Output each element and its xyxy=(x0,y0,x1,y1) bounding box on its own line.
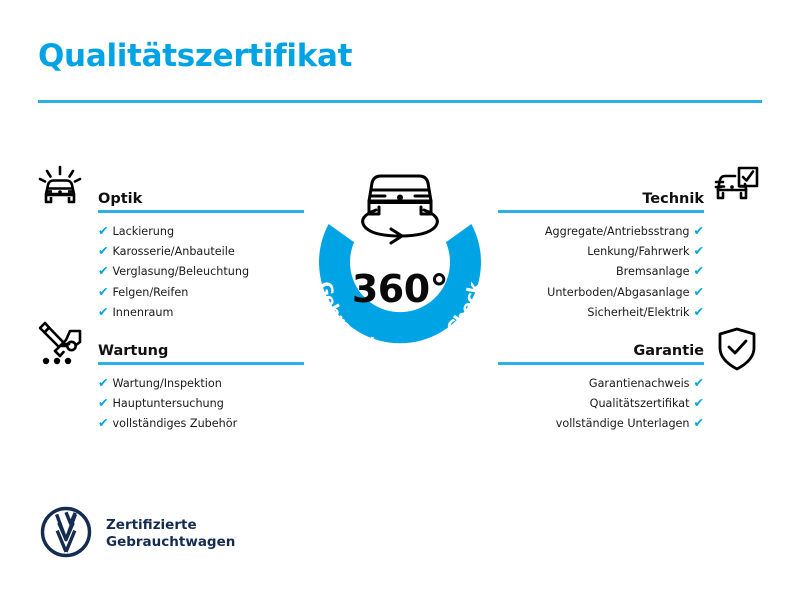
section-optik-divider xyxy=(98,210,304,213)
title-divider xyxy=(38,100,762,103)
list-item: vollständige Unterlagen✔ xyxy=(498,413,704,433)
page-title: Qualitätszertifikat xyxy=(38,38,352,74)
list-item: Qualitätszertifikat✔ xyxy=(498,393,704,413)
section-optik-list: ✔Lackierung ✔Karosserie/Anbauteile ✔Verg… xyxy=(98,221,304,322)
volkswagen-logo-icon xyxy=(40,506,92,562)
check-icon: ✔ xyxy=(694,415,704,430)
check-icon: ✔ xyxy=(98,304,108,319)
badge-center-label: 360° xyxy=(297,267,503,311)
section-technik-title: Technik xyxy=(642,191,704,207)
check-icon: ✔ xyxy=(98,395,108,410)
check-icon: ✔ xyxy=(694,223,704,238)
list-item-label: Innenraum xyxy=(112,306,173,319)
section-wartung-divider xyxy=(98,362,304,365)
section-wartung-list: ✔Wartung/Inspektion ✔Hauptuntersuchung ✔… xyxy=(98,373,304,434)
list-item-label: Lackierung xyxy=(112,225,174,238)
check-icon: ✔ xyxy=(98,243,108,258)
car-checkbox-icon xyxy=(712,166,760,214)
list-item: ✔Felgen/Reifen xyxy=(98,282,304,302)
section-optik-header: Optik xyxy=(98,183,304,213)
section-wartung-header: Wartung xyxy=(98,335,304,365)
list-item: Unterboden/Abgasanlage✔ xyxy=(498,282,704,302)
check-icon: ✔ xyxy=(694,243,704,258)
section-technik-list: Aggregate/Antriebsstrang✔ Lenkung/Fahrwe… xyxy=(498,221,704,322)
check-icon: ✔ xyxy=(98,263,108,278)
section-wartung: Wartung ✔Wartung/Inspektion ✔Hauptunters… xyxy=(98,335,304,450)
check-icon: ✔ xyxy=(694,375,704,390)
car-shine-icon xyxy=(36,164,84,216)
list-item-label: Qualitätszertifikat xyxy=(590,397,690,410)
check-icon: ✔ xyxy=(694,395,704,410)
list-item-label: vollständige Unterlagen xyxy=(556,417,690,430)
list-item: ✔Lackierung xyxy=(98,221,304,241)
section-garantie-divider xyxy=(498,362,704,365)
check-icon: ✔ xyxy=(98,375,108,390)
badge-360-check: Gebrauchtwagen-Check 360° xyxy=(297,157,503,377)
list-item-label: Bremsanlage xyxy=(616,265,690,278)
list-item-label: Karosserie/Anbauteile xyxy=(112,245,234,258)
section-garantie-header: Garantie xyxy=(498,335,704,365)
footer-brand: Zertifizierte Gebrauchtwagen xyxy=(40,506,235,562)
footer-brand-text: Zertifizierte Gebrauchtwagen xyxy=(106,517,235,551)
list-item-label: Wartung/Inspektion xyxy=(112,377,221,390)
list-item: ✔Verglasung/Beleuchtung xyxy=(98,261,304,281)
check-icon: ✔ xyxy=(98,415,108,430)
list-item: ✔Innenraum xyxy=(98,302,304,322)
list-item: Bremsanlage✔ xyxy=(498,261,704,281)
section-technik: Technik Aggregate/Antriebsstrang✔ Lenkun… xyxy=(498,183,704,338)
section-optik: Optik ✔Lackierung ✔Karosserie/Anbauteile… xyxy=(98,183,304,338)
list-item: Sicherheit/Elektrik✔ xyxy=(498,302,704,322)
list-item-label: Felgen/Reifen xyxy=(112,286,188,299)
check-icon: ✔ xyxy=(694,263,704,278)
section-optik-title: Optik xyxy=(98,191,142,207)
list-item-label: Lenkung/Fahrwerk xyxy=(587,245,689,258)
check-icon: ✔ xyxy=(98,284,108,299)
list-item: ✔Karosserie/Anbauteile xyxy=(98,241,304,261)
section-garantie-title: Garantie xyxy=(633,343,704,359)
list-item: ✔vollständiges Zubehör xyxy=(98,413,304,433)
car-service-pen-icon xyxy=(36,320,84,370)
list-item-label: Hauptuntersuchung xyxy=(112,397,223,410)
check-icon: ✔ xyxy=(694,304,704,319)
list-item-label: Unterboden/Abgasanlage xyxy=(547,286,689,299)
list-item: Lenkung/Fahrwerk✔ xyxy=(498,241,704,261)
check-icon: ✔ xyxy=(98,223,108,238)
list-item-label: Garantienachweis xyxy=(589,377,690,390)
section-wartung-title: Wartung xyxy=(98,343,168,359)
list-item-label: Verglasung/Beleuchtung xyxy=(112,265,249,278)
section-technik-header: Technik xyxy=(498,183,704,213)
list-item: ✔Wartung/Inspektion xyxy=(98,373,304,393)
list-item: ✔Hauptuntersuchung xyxy=(98,393,304,413)
list-item-label: vollständiges Zubehör xyxy=(112,417,237,430)
section-garantie: Garantie Garantienachweis✔ Qualitätszert… xyxy=(498,335,704,450)
list-item-label: Aggregate/Antriebsstrang xyxy=(545,225,690,238)
check-icon: ✔ xyxy=(694,284,704,299)
list-item: Aggregate/Antriebsstrang✔ xyxy=(498,221,704,241)
section-garantie-list: Garantienachweis✔ Qualitätszertifikat✔ v… xyxy=(498,373,704,434)
shield-check-icon xyxy=(716,326,758,376)
list-item-label: Sicherheit/Elektrik xyxy=(587,306,689,319)
section-technik-divider xyxy=(498,210,704,213)
list-item: Garantienachweis✔ xyxy=(498,373,704,393)
